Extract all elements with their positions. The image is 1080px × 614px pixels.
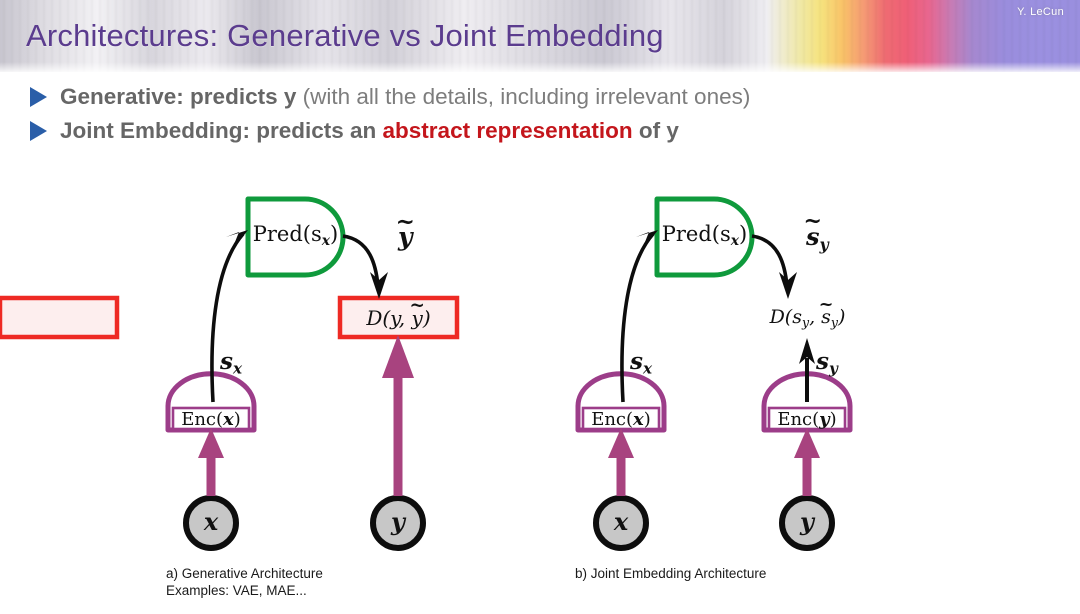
edge-y-arrowhead-a bbox=[382, 335, 414, 378]
bullet-item-generative: Generative: predicts y (with all the det… bbox=[0, 84, 1080, 109]
edge-sx-arrowhead-a bbox=[226, 230, 248, 252]
tilde-s-glyph: ~s bbox=[806, 222, 820, 251]
bullet-rest-generative: (with all the details, including irrelev… bbox=[296, 84, 750, 109]
tilde-s-glyph: ~s bbox=[821, 306, 831, 328]
caption-b: b) Joint Embedding Architecture bbox=[575, 566, 766, 583]
distance-label-b: D(sy, ~sy) bbox=[749, 306, 866, 330]
input-y-label-a: y bbox=[373, 507, 423, 536]
bullet-tail-joint: of y bbox=[633, 118, 679, 143]
predictor-label-a: Pred(sx) bbox=[248, 222, 343, 249]
caption-a: a) Generative Architecture Examples: VAE… bbox=[166, 566, 323, 600]
input-x-label-b: x bbox=[596, 507, 646, 536]
diagram-canvas bbox=[0, 170, 1080, 614]
input-y-label-b: y bbox=[782, 507, 832, 536]
triangle-bullet-icon bbox=[30, 121, 47, 141]
input-x-label-a: x bbox=[186, 507, 236, 536]
edge-ytilde-arrowhead-a bbox=[370, 272, 388, 299]
bullet-text-generative: Generative: predicts y (with all the det… bbox=[60, 84, 750, 109]
encoder-y-label-b: Enc(y) bbox=[769, 409, 845, 430]
slide-header: Architectures: Generative vs Joint Embed… bbox=[0, 0, 1080, 72]
bullet-text-joint-embedding: Joint Embedding: predicts an abstract re… bbox=[60, 118, 679, 143]
encoder-x-label-b: Enc(x) bbox=[583, 409, 659, 430]
edge-label-sx-a: sx bbox=[220, 348, 242, 378]
distance-box-b bbox=[0, 298, 117, 337]
distance-label-a: D(y, ~y) bbox=[340, 306, 457, 330]
predictor-label-b: Pred(sx) bbox=[657, 222, 752, 249]
bullet-list: Generative: predicts y (with all the det… bbox=[0, 84, 1080, 152]
encoder-x-label-a: Enc(x) bbox=[173, 409, 249, 430]
architecture-diagram: Pred(sx) D(y, ~y) Enc(x) x y sx ~y a) Ge… bbox=[0, 170, 1080, 614]
author-credit: Y. LeCun bbox=[1017, 6, 1064, 18]
bullet-highlight-joint: abstract representation bbox=[383, 118, 633, 143]
edge-label-ytilde-a: ~y bbox=[398, 222, 413, 251]
tilde-y-glyph: ~y bbox=[398, 222, 413, 251]
page-title: Architectures: Generative vs Joint Embed… bbox=[26, 18, 664, 54]
edge-label-sytilde-b: ~sy bbox=[806, 222, 829, 254]
edge-label-sy-b: sy bbox=[816, 348, 838, 378]
caption-a-line2: Examples: VAE, MAE... bbox=[166, 583, 323, 600]
header-bottom-fade bbox=[0, 62, 1080, 72]
edge-sytilde-arrowhead-b bbox=[779, 272, 797, 299]
tilde-y-glyph: ~y bbox=[412, 306, 423, 330]
caption-a-line1: a) Generative Architecture bbox=[166, 566, 323, 583]
edge-label-sx-b: sx bbox=[630, 348, 652, 378]
bullet-item-joint-embedding: Joint Embedding: predicts an abstract re… bbox=[0, 118, 1080, 143]
bullet-bold-joint: Joint Embedding: predicts an bbox=[60, 118, 383, 143]
caption-b-line1: b) Joint Embedding Architecture bbox=[575, 566, 766, 583]
triangle-bullet-icon bbox=[30, 87, 47, 107]
bullet-bold-generative: Generative: predicts y bbox=[60, 84, 296, 109]
